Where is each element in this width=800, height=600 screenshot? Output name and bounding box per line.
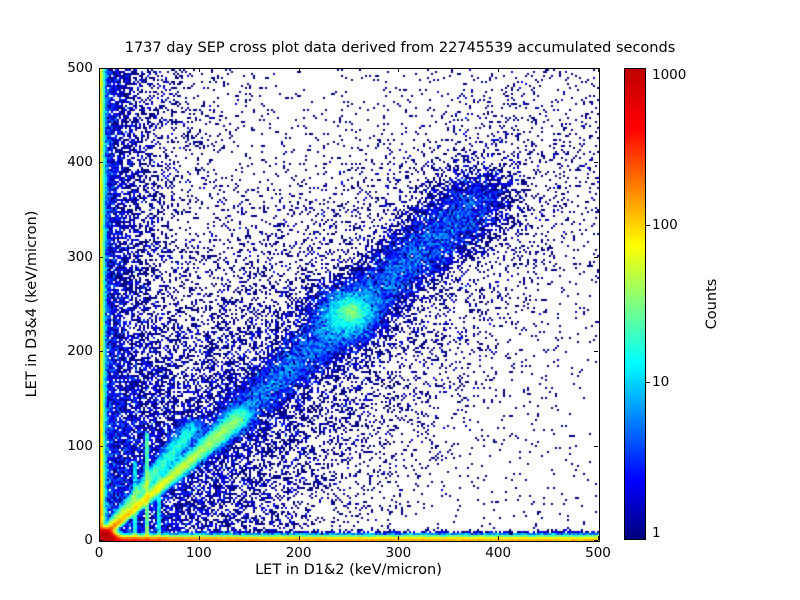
x-axis-tick: [199, 536, 200, 540]
x-axis-tick-top: [398, 68, 399, 72]
y-axis-label: LET in D3&4 (keV/micron): [24, 211, 40, 398]
colorbar-tick: [646, 225, 650, 226]
colorbar-gradient: [624, 68, 646, 540]
y-axis-tick-label: 0: [47, 532, 93, 548]
y-axis-tick-label: 200: [47, 343, 93, 359]
colorbar-tick-label: 1000: [652, 67, 686, 83]
colorbar-label: Counts: [704, 279, 720, 330]
colorbar-tick-label: 100: [652, 217, 678, 233]
chart-title-line-1: 1737 day SEP cross plot data derived fro…: [0, 40, 800, 57]
x-axis-tick-label: 400: [485, 545, 511, 561]
x-axis-tick-label: 300: [386, 545, 412, 561]
y-axis-tick: [99, 540, 103, 541]
x-axis-tick-top: [498, 68, 499, 72]
x-axis-tick-label: 500: [585, 545, 611, 561]
y-axis-tick-right: [594, 446, 598, 447]
y-axis-tick: [99, 257, 103, 258]
y-axis-tick-label: 400: [47, 154, 93, 170]
x-axis-tick: [299, 536, 300, 540]
y-axis-tick-right: [594, 68, 598, 69]
x-axis-tick-top: [598, 68, 599, 72]
x-axis-tick: [498, 536, 499, 540]
x-axis-tick-label: 200: [286, 545, 312, 561]
y-axis-tick-right: [594, 162, 598, 163]
y-axis-tick: [99, 446, 103, 447]
y-axis-tick-label: 300: [47, 249, 93, 265]
x-axis-tick: [598, 536, 599, 540]
y-axis-tick-label: 100: [47, 438, 93, 454]
x-axis-tick-top: [299, 68, 300, 72]
y-axis-tick: [99, 68, 103, 69]
y-axis-tick-label: 500: [47, 60, 93, 76]
plot-area[interactable]: [99, 68, 600, 542]
y-axis-tick: [99, 351, 103, 352]
x-axis-tick-label: 100: [186, 545, 212, 561]
colorbar-tick: [646, 382, 650, 383]
colorbar-tick-label: 1: [652, 525, 661, 541]
x-axis-tick: [398, 536, 399, 540]
heatmap-scatter-plot[interactable]: [100, 69, 599, 541]
x-axis-tick-label: 0: [95, 545, 104, 561]
x-axis-label: LET in D1&2 (keV/micron): [99, 562, 598, 578]
y-axis-tick: [99, 162, 103, 163]
figure-canvas: 1737 day SEP cross plot data derived fro…: [0, 0, 800, 600]
y-axis-tick-right: [594, 540, 598, 541]
y-axis-tick-right: [594, 257, 598, 258]
x-axis-tick-top: [199, 68, 200, 72]
y-axis-tick-right: [594, 351, 598, 352]
colorbar[interactable]: 1101001000: [624, 68, 646, 540]
colorbar-tick-label: 10: [652, 374, 669, 390]
